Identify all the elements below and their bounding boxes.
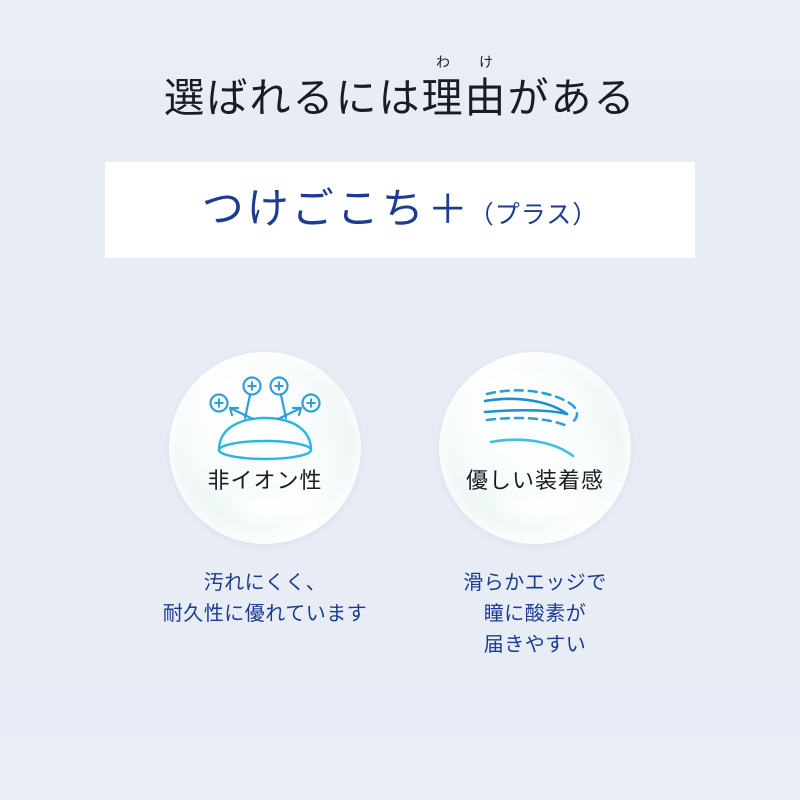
headline-furigana: わけ [422,57,508,71]
furigana-wa: わ [436,57,450,71]
feature-caption: 滑らかエッジで 瞳に酸素が 届きやすい [385,568,685,661]
subtitle-band: つけごこち＋（プラス） [105,162,695,258]
feature-sphere: 非イオン性 [169,352,361,544]
headline-part-2: がある [508,78,637,119]
furigana-ke: け [479,57,493,71]
feature-label: 非イオン性 [169,470,361,492]
poster-root: 選ばれるにはわけ理由がある つけごこち＋（プラス） [0,0,800,800]
subtitle-text: つけごこち＋（プラス） [202,189,599,231]
caption-line: 瞳に酸素が [385,599,685,630]
caption-line: 届きやすい [385,630,685,661]
caption-line: 耐久性に優れています [115,599,415,630]
non-ionic-lens-icon [205,374,325,469]
caption-line: 滑らかエッジで [385,568,685,599]
feature-item-non-ionic: 非イオン性 汚れにくく、 耐久性に優れています [115,352,415,630]
feature-label: 優しい装着感 [439,470,631,492]
feature-list: 非イオン性 汚れにくく、 耐久性に優れています [0,352,800,682]
page-headline: 選ばれるにはわけ理由がある [0,78,800,119]
subtitle-main: つけごこち [202,187,427,233]
feature-caption: 汚れにくく、 耐久性に優れています [115,568,415,630]
headline-part-1: 選ばれるには [164,78,422,119]
headline-ruby-base: 理由 [422,78,508,119]
smooth-edge-lens-icon [475,374,595,469]
feature-item-gentle-fit: 優しい装着感 滑らかエッジで 瞳に酸素が 届きやすい [385,352,685,661]
feature-sphere: 優しい装着感 [439,352,631,544]
subtitle-plus-symbol: ＋ [427,187,469,232]
headline-ruby-group: わけ理由 [422,78,508,119]
subtitle-reading: （プラス） [469,202,599,229]
caption-line: 汚れにくく、 [115,568,415,599]
